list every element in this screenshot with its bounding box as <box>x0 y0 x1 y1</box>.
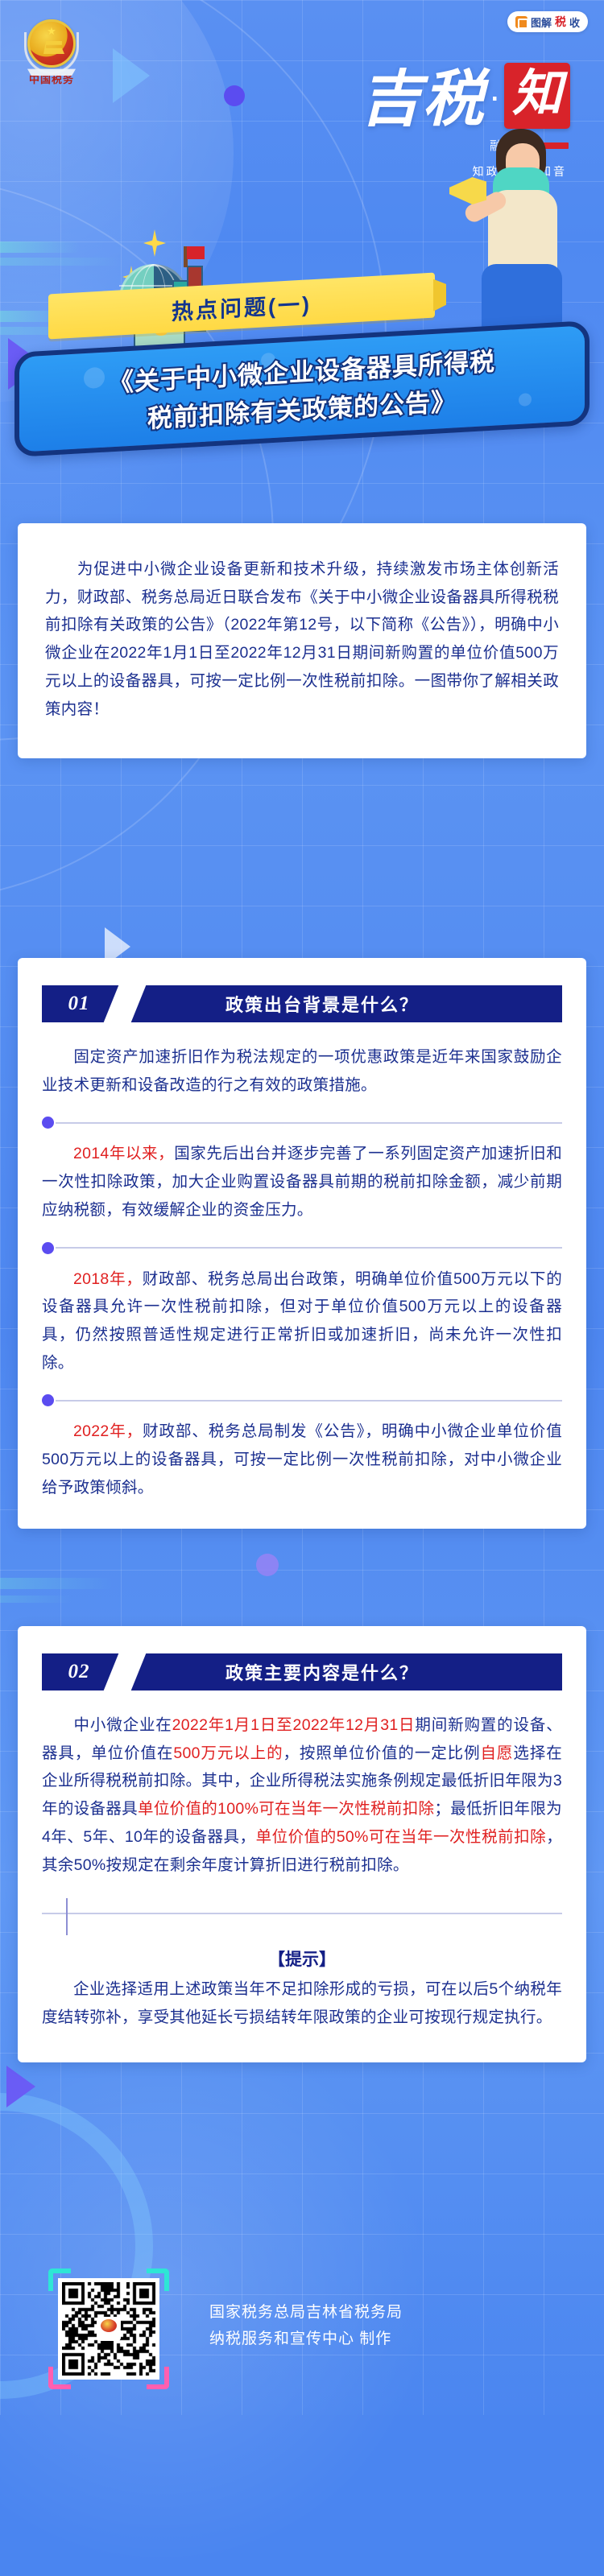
flag-icon <box>187 246 205 259</box>
footer: 国家税务总局吉林省税务局 纳税服务和宣传中心 制作 <box>0 2254 604 2415</box>
section-1-item-2: 2018年，财政部、税务总局出台政策，明确单位价值500万元以下的设备器具允许一… <box>42 1265 562 1377</box>
tip-top-rule <box>42 1913 562 1914</box>
section-1-card: 01 政策出台背景是什么？ 固定资产加速折旧作为税法规定的一项优惠政策是近年来国… <box>18 958 586 1529</box>
china-tax-emblem: 中国税务 <box>23 19 81 90</box>
title-seal-character: 知 <box>504 63 570 129</box>
section-2-run: 自愿 <box>481 1744 514 1762</box>
section-1-title: 政策出台背景是什么？ <box>139 991 562 1017</box>
section-2-run: 2022年1月1日至2022年12月31日 <box>172 1716 416 1734</box>
triangle-accent <box>6 2066 35 2107</box>
chart-icon <box>515 16 527 28</box>
tip-corner-mark <box>66 1898 68 1935</box>
divider-bullet <box>42 1117 562 1129</box>
section-2-title: 政策主要内容是什么？ <box>139 1659 562 1685</box>
footer-text: 国家税务总局吉林省税务局 纳税服务和宣传中心 制作 <box>209 2299 403 2353</box>
footer-line-2: 纳税服务和宣传中心 制作 <box>209 2326 403 2352</box>
section-2-header: 02 政策主要内容是什么？ <box>42 1653 562 1690</box>
document-title-text: 《关于中小微企业设备器具所得税 税前扣除有关政策的公告》 <box>14 320 590 457</box>
qr-code-image <box>58 2278 159 2380</box>
background-streak <box>0 1596 72 1603</box>
brand-part-2: 税 <box>555 14 566 30</box>
tip-heading: 【提示】 <box>42 1946 562 1971</box>
brand-part-3: 收 <box>569 14 580 30</box>
bullet-dot-icon <box>42 1117 54 1129</box>
section-1-number: 01 <box>42 993 116 1015</box>
section-1-item-1: 2014年以来，国家先后出台并逐步完善了一系列固定资产加速折旧和一次性扣除政策，… <box>42 1140 562 1224</box>
tip-block: 【提示】 企业选择适用上述政策当年不足扣除形成的亏损，可在以后5个纳税年度结转弥… <box>42 1906 562 2031</box>
footer-line-1: 国家税务总局吉林省税务局 <box>209 2299 403 2326</box>
section-2-run: 中小微企业在 <box>73 1716 172 1734</box>
intro-paragraph: 为促进中小微企业设备更新和技术升级，持续激发市场主体创新活力，财政部、税务总局近… <box>45 555 559 723</box>
bullet-dot-icon <box>42 1242 54 1254</box>
section-2-run: ，按照单位价值的一定比例 <box>283 1744 481 1762</box>
page-title: 吉税 · 知 <box>360 63 570 129</box>
hot-topic-banner-text-layer: 热点问题(一) <box>48 273 435 340</box>
section-2-run: 500万元以上的 <box>173 1744 283 1762</box>
section-1-lead: 固定资产加速折旧作为税法规定的一项优惠政策是近年来国家鼓励企业技术更新和设备改造… <box>42 1043 562 1099</box>
section-2-card: 02 政策主要内容是什么？ 中小微企业在2022年1月1日至2022年12月31… <box>18 1626 586 2062</box>
qr-code-block[interactable] <box>48 2268 169 2389</box>
intro-card: 为促进中小微企业设备更新和技术升级，持续激发市场主体创新活力，财政部、税务总局近… <box>18 523 586 758</box>
emblem-disc-small <box>101 2319 117 2332</box>
divider-line <box>56 1122 562 1124</box>
section-2-body: 中小微企业在2022年1月1日至2022年12月31日期间新购置的设备、器具，单… <box>42 1711 562 1879</box>
section-2-number: 02 <box>42 1661 116 1683</box>
divider-bullet <box>42 1394 562 1406</box>
megaphone-icon <box>449 177 486 204</box>
bullet-dot-icon <box>42 1394 54 1406</box>
decor-dot <box>256 1554 279 1576</box>
hot-topic-label: 热点问题(一) <box>48 273 435 340</box>
section-1-item-3: 2022年，财政部、税务总局制发《公告》，明确中小微企业单位价值500万元以上的… <box>42 1418 562 1501</box>
section-2-run: 单位价值的100%可在当年一次性税前扣除 <box>138 1800 434 1818</box>
background-streak <box>0 1578 113 1589</box>
divider-line <box>56 1400 562 1402</box>
section-2-run: 单位价值的50%可在当年一次性税前扣除 <box>256 1828 547 1846</box>
brand-part-1: 图解 <box>531 14 552 30</box>
header-banner: 中国税务 图解 税 收 吉税 · 知 融媒体 知政·知解·知音 <box>0 0 604 499</box>
sparkle-icon <box>143 229 166 257</box>
tujie-shuishou-logo: 图解 税 收 <box>507 11 588 32</box>
qr-center-emblem <box>97 2317 121 2341</box>
emblem-wheat <box>24 32 79 74</box>
tip-paragraph: 企业选择适用上述政策当年不足扣除形成的亏损，可在以后5个纳税年度结转弥补，享受其… <box>42 1975 562 2031</box>
section-1-header: 01 政策出台背景是什么？ <box>42 985 562 1022</box>
divider-bullet <box>42 1242 562 1254</box>
divider-line <box>56 1247 562 1249</box>
